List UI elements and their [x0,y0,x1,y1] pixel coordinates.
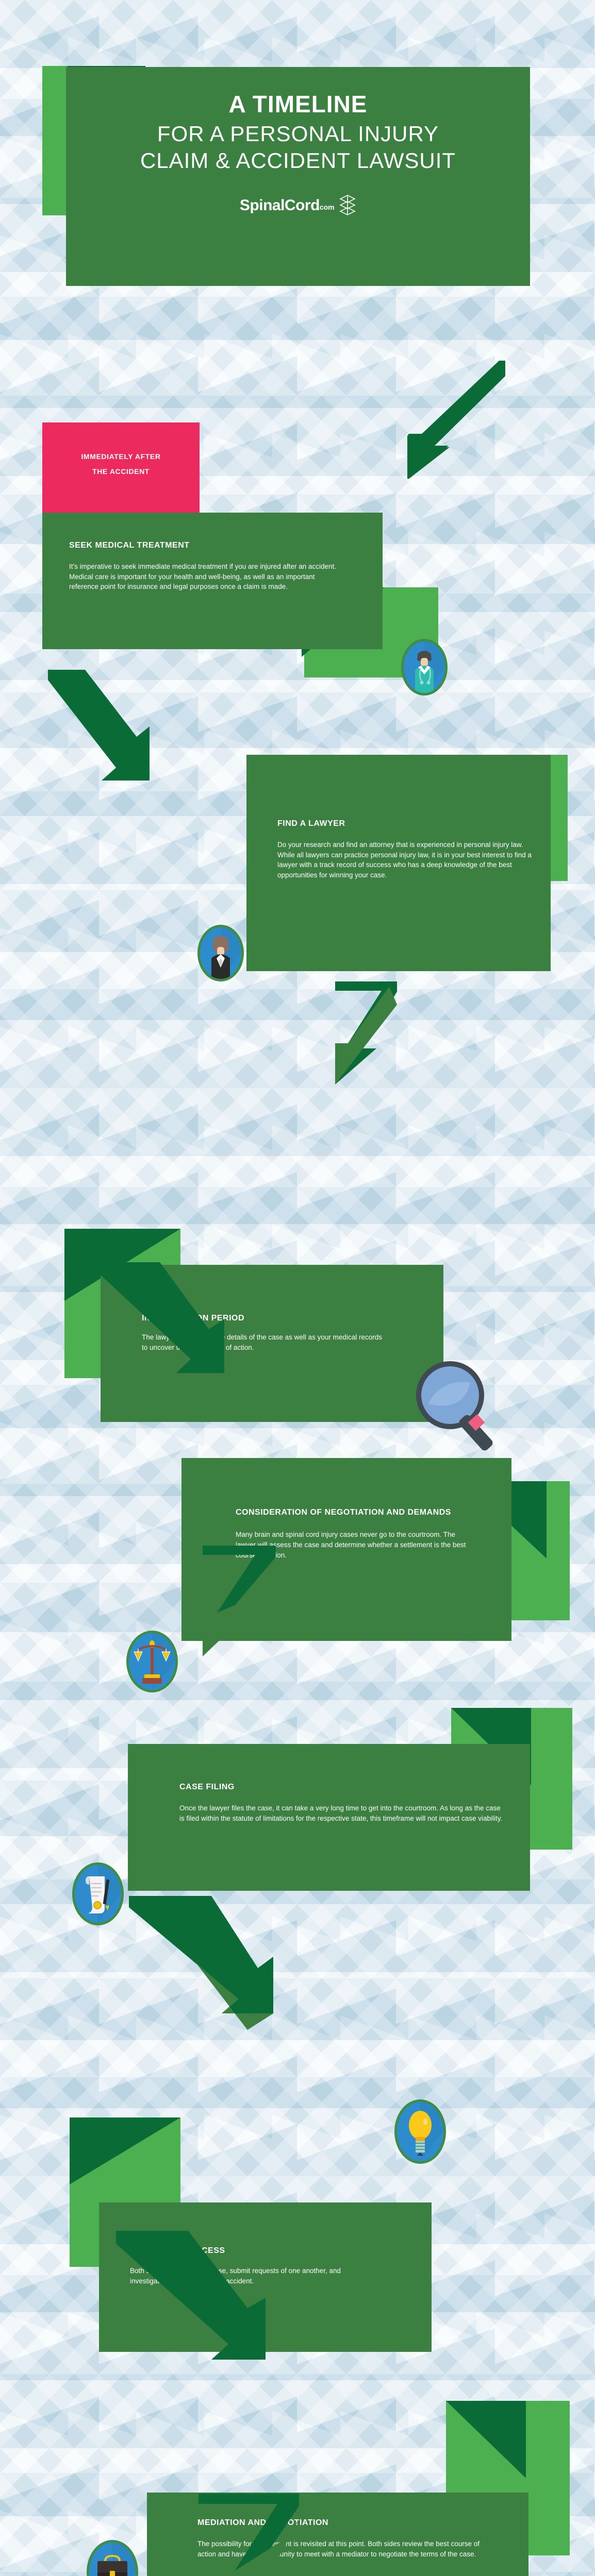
step-1-icon-badge [401,639,448,696]
flow-arrow-1 [371,361,505,479]
step-2-icon-badge [197,925,244,981]
doctor-icon [404,641,445,693]
lightbulb-idea-icon [397,2102,443,2161]
step-1-body: It's imperative to seek immediate medica… [69,562,345,592]
page-title-line2: FOR A PERSONAL INJURY [66,122,530,146]
step-2-body: Do your research and find an attorney th… [277,840,535,880]
step-2-card: FIND A LAWYER Do your research and find … [246,755,551,971]
flow-arrow-3 [242,981,397,1126]
step-1-card: SEEK MEDICAL TREATMENT It's imperative t… [42,513,383,649]
flow-arrow-6 [119,1896,299,2045]
spinal-cord-helix-icon [339,195,356,216]
step-1-title: SEEK MEDICAL TREATMENT [69,541,383,550]
brand-logo: SpinalCord.com [66,195,530,216]
step-5-card: CASE FILING Once the lawyer files the ca… [128,1744,530,1891]
flow-arrow-2 [39,670,173,788]
flow-arrow-7 [116,2231,302,2385]
step-6-icon-badge [394,2099,446,2164]
infographic-page: A TIMELINE FOR A PERSONAL INJURY CLAIM &… [0,0,595,2576]
badge-line1: IMMEDIATELY AFTER [42,449,200,464]
flow-arrow-4 [98,1262,263,1396]
badge-immediately-after-accident: IMMEDIATELY AFTER THE ACCIDENT [42,422,200,515]
page-title-line1: A TIMELINE [66,90,530,118]
step-4-title: CONSIDERATION OF NEGOTIATION AND DEMANDS [236,1507,478,1518]
badge-line2: THE ACCIDENT [42,464,200,479]
page-title-line3: CLAIM & ACCIDENT LAWSUIT [66,148,530,173]
step-2-title: FIND A LAWYER [277,819,551,828]
lawyer-icon [200,927,241,979]
magnifying-glass-icon [407,1355,505,1458]
step-5-icon-badge [72,1862,124,1925]
step-7-ribbon-fold [446,2401,526,2478]
flow-arrow-5 [95,1546,276,1695]
flow-arrow-8 [113,2494,299,2576]
brand-name: SpinalCord [240,197,320,214]
brand-tld: .com [318,203,335,211]
step-6-ribbon-fold [70,2117,180,2184]
step-5-title: CASE FILING [179,1783,530,1792]
step-3-icon [407,1355,505,1458]
scroll-document-icon [75,1865,121,1923]
step-5-body: Once the lawyer files the case, it can t… [179,1803,504,1823]
